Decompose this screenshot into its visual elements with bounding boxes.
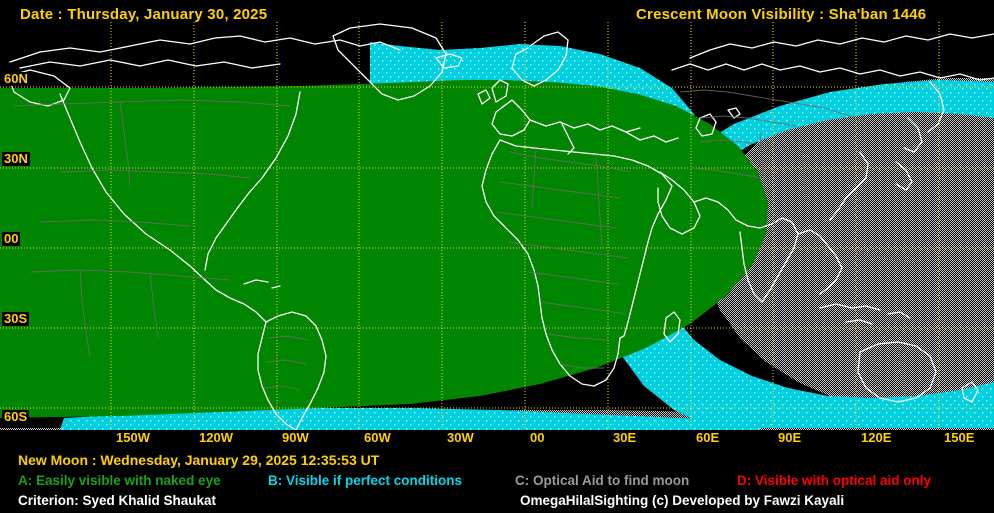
lon-label-150w: 150W (116, 430, 150, 446)
lon-label-120e: 120E (861, 430, 891, 446)
lon-label-60e: 60E (696, 430, 719, 446)
lon-label-90w: 90W (282, 430, 309, 446)
lat-label-30s: 30S (2, 312, 29, 326)
legend-item-c: C: Optical Aid to find moon (515, 473, 689, 488)
lon-label-00: 00 (530, 430, 544, 446)
visibility-map-page: Date : Thursday, January 30, 2025 Cresce… (0, 0, 994, 513)
criterion-label: Criterion: Syed Khalid Shaukat (18, 493, 216, 508)
legend-item-a: A: Easily visible with naked eye (18, 473, 221, 488)
lon-label-60w: 60W (364, 430, 391, 446)
lon-label-150e: 150E (944, 430, 974, 446)
lon-label-120w: 120W (199, 430, 233, 446)
lat-label-30n: 30N (2, 152, 30, 166)
legend-item-b: B: Visible if perfect conditions (268, 473, 462, 488)
lat-label-60n: 60N (2, 72, 30, 86)
lon-label-30e: 30E (613, 430, 636, 446)
legend-item-d: D: Visible with optical aid only (737, 473, 931, 488)
lon-label-30w: 30W (447, 430, 474, 446)
map-canvas (0, 22, 994, 430)
page-title: Crescent Moon Visibility : Sha'ban 1446 (636, 6, 926, 23)
credit-label: OmegaHilalSighting (c) Developed by Fawz… (520, 493, 844, 508)
lat-label-00: 00 (2, 232, 20, 246)
lon-label-90e: 90E (778, 430, 801, 446)
world-visibility-map (0, 22, 994, 430)
date-header: Date : Thursday, January 30, 2025 (20, 6, 267, 23)
new-moon-info: New Moon : Wednesday, January 29, 2025 1… (18, 452, 379, 468)
lat-label-60s: 60S (2, 410, 29, 424)
